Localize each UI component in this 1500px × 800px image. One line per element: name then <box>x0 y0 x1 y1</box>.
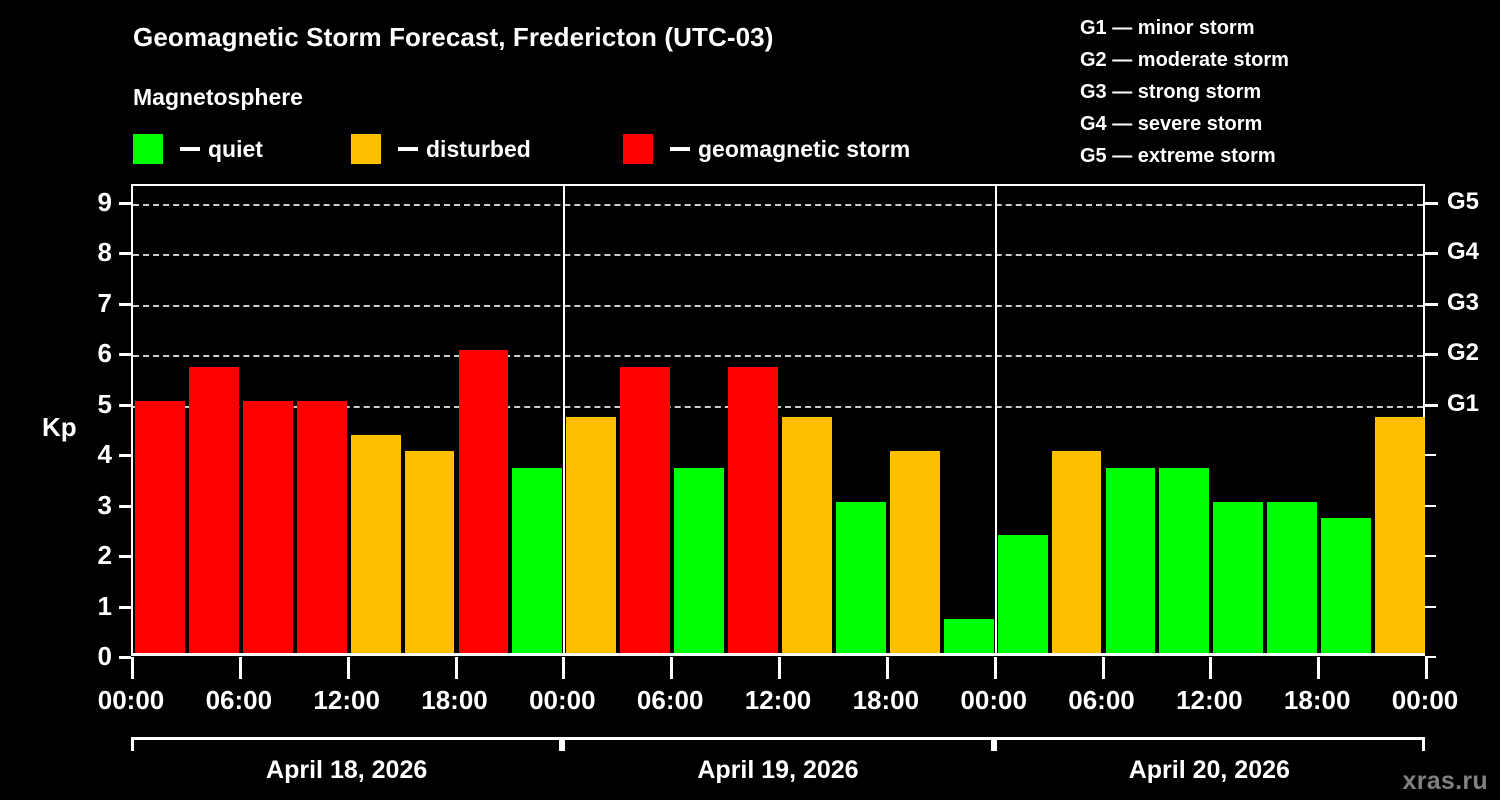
bar <box>890 451 940 653</box>
x-tick-mark <box>239 657 242 679</box>
gscale-legend: G1 — minor stormG2 — moderate stormG3 — … <box>1064 12 1484 172</box>
bar <box>1375 417 1425 653</box>
x-tick-label: 18:00 <box>826 687 946 713</box>
bar <box>459 350 509 653</box>
g-tick-mark-minor <box>1425 454 1436 456</box>
bar <box>351 435 401 653</box>
bar <box>189 367 239 653</box>
y-tick-label-3: 3 <box>78 492 112 518</box>
y-tick-mark <box>119 252 131 255</box>
bar <box>944 619 994 653</box>
magnetosphere-section-label: Magnetosphere <box>133 84 303 111</box>
g-tick-mark-minor <box>1425 505 1436 507</box>
x-tick-label: 12:00 <box>1149 687 1269 713</box>
g-axis-label-g1: G1 <box>1447 392 1499 416</box>
bar <box>674 468 724 653</box>
gridline-kp-9 <box>133 204 1423 206</box>
plot-area <box>131 184 1425 656</box>
g-tick-mark <box>1425 303 1438 306</box>
y-tick-mark <box>119 555 131 558</box>
x-tick-mark <box>1209 657 1212 679</box>
watermark: xras.ru <box>1403 767 1489 796</box>
y-tick-mark <box>119 606 131 609</box>
g-tick-mark <box>1425 252 1438 255</box>
bar <box>1052 451 1102 653</box>
x-tick-mark <box>1317 657 1320 679</box>
gridline-kp-6 <box>133 355 1423 357</box>
x-tick-mark <box>131 657 134 679</box>
x-tick-label: 06:00 <box>1042 687 1162 713</box>
bar <box>1267 502 1317 653</box>
bar <box>782 417 832 653</box>
y-tick-mark <box>119 505 131 508</box>
g-axis-label-g5: G5 <box>1447 190 1499 214</box>
gscale-legend-row-g1: G1 — minor storm <box>1064 12 1484 44</box>
day-label: April 18, 2026 <box>131 756 562 785</box>
g-tick-mark-minor <box>1425 606 1436 608</box>
x-tick-label: 18:00 <box>1257 687 1377 713</box>
day-separator <box>995 186 997 653</box>
y-tick-mark <box>119 454 131 457</box>
gscale-legend-row-g5: G5 — extreme storm <box>1064 140 1484 172</box>
x-tick-label: 12:00 <box>287 687 407 713</box>
g-tick-mark-minor <box>1425 555 1436 557</box>
x-tick-label: 00:00 <box>934 687 1054 713</box>
chart-root: Geomagnetic Storm Forecast, Fredericton … <box>0 0 1500 800</box>
y-tick-mark <box>119 202 131 205</box>
y-tick-label-0: 0 <box>78 643 112 669</box>
gscale-legend-row-g4: G4 — severe storm <box>1064 108 1484 140</box>
page-title: Geomagnetic Storm Forecast, Fredericton … <box>133 22 773 53</box>
y-tick-label-6: 6 <box>78 340 112 366</box>
g-tick-mark <box>1425 404 1438 407</box>
legend-entry-disturbed: disturbed <box>351 133 531 165</box>
y-axis-title: Kp <box>42 412 77 443</box>
legend-swatch-storm-icon <box>623 134 653 164</box>
x-tick-label: 06:00 <box>610 687 730 713</box>
x-tick-mark <box>886 657 889 679</box>
g-tick-mark <box>1425 353 1438 356</box>
gscale-legend-row-g2: G2 — moderate storm <box>1064 44 1484 76</box>
x-tick-mark <box>994 657 997 679</box>
gscale-legend-row-g3: G3 — strong storm <box>1064 76 1484 108</box>
bar <box>135 401 185 653</box>
bar <box>566 417 616 653</box>
x-tick-label: 00:00 <box>1365 687 1485 713</box>
day-label: April 20, 2026 <box>994 756 1425 785</box>
x-tick-mark <box>1425 657 1428 679</box>
y-tick-label-4: 4 <box>78 441 112 467</box>
bar <box>728 367 778 653</box>
legend-dash-icon <box>180 147 200 151</box>
day-separator <box>563 186 565 653</box>
bar <box>998 535 1048 653</box>
bar <box>297 401 347 653</box>
legend-label-storm: geomagnetic storm <box>698 136 910 163</box>
legend-dash-icon <box>398 147 418 151</box>
x-tick-mark <box>1102 657 1105 679</box>
y-tick-label-9: 9 <box>78 189 112 215</box>
plot-inner <box>133 186 1423 653</box>
bar <box>836 502 886 653</box>
day-label: April 19, 2026 <box>562 756 993 785</box>
legend-swatch-disturbed-icon <box>351 134 381 164</box>
legend-label-quiet: quiet <box>208 136 263 163</box>
day-bracket <box>131 737 562 751</box>
bar <box>512 468 562 653</box>
x-tick-label: 00:00 <box>502 687 622 713</box>
gridline-kp-8 <box>133 254 1423 256</box>
x-tick-mark <box>562 657 565 679</box>
g-axis-label-g4: G4 <box>1447 240 1499 264</box>
x-tick-mark <box>670 657 673 679</box>
x-tick-mark <box>778 657 781 679</box>
day-bracket <box>562 737 993 751</box>
x-tick-label: 12:00 <box>718 687 838 713</box>
x-tick-mark <box>455 657 458 679</box>
legend-entry-quiet: quiet <box>133 133 263 165</box>
bar <box>620 367 670 653</box>
g-axis-label-g3: G3 <box>1447 291 1499 315</box>
y-tick-label-1: 1 <box>78 593 112 619</box>
x-tick-label: 18:00 <box>395 687 515 713</box>
x-tick-mark <box>347 657 350 679</box>
y-tick-mark <box>119 353 131 356</box>
y-tick-label-8: 8 <box>78 239 112 265</box>
bar <box>243 401 293 653</box>
y-tick-mark <box>119 303 131 306</box>
y-tick-mark <box>119 404 131 407</box>
gridline-kp-7 <box>133 305 1423 307</box>
legend-swatch-quiet-icon <box>133 134 163 164</box>
bar <box>1213 502 1263 653</box>
bar <box>1321 518 1371 653</box>
legend-entry-storm: geomagnetic storm <box>623 133 910 165</box>
legend-dash-icon <box>670 147 690 151</box>
y-tick-label-5: 5 <box>78 391 112 417</box>
g-tick-mark <box>1425 202 1438 205</box>
y-tick-mark <box>119 656 131 659</box>
day-bracket <box>994 737 1425 751</box>
bar <box>1106 468 1156 653</box>
y-tick-label-2: 2 <box>78 542 112 568</box>
bar <box>1159 468 1209 653</box>
legend-label-disturbed: disturbed <box>426 136 531 163</box>
y-tick-label-7: 7 <box>78 290 112 316</box>
g-axis-label-g2: G2 <box>1447 341 1499 365</box>
x-tick-label: 00:00 <box>71 687 191 713</box>
bar <box>405 451 455 653</box>
x-tick-label: 06:00 <box>179 687 299 713</box>
